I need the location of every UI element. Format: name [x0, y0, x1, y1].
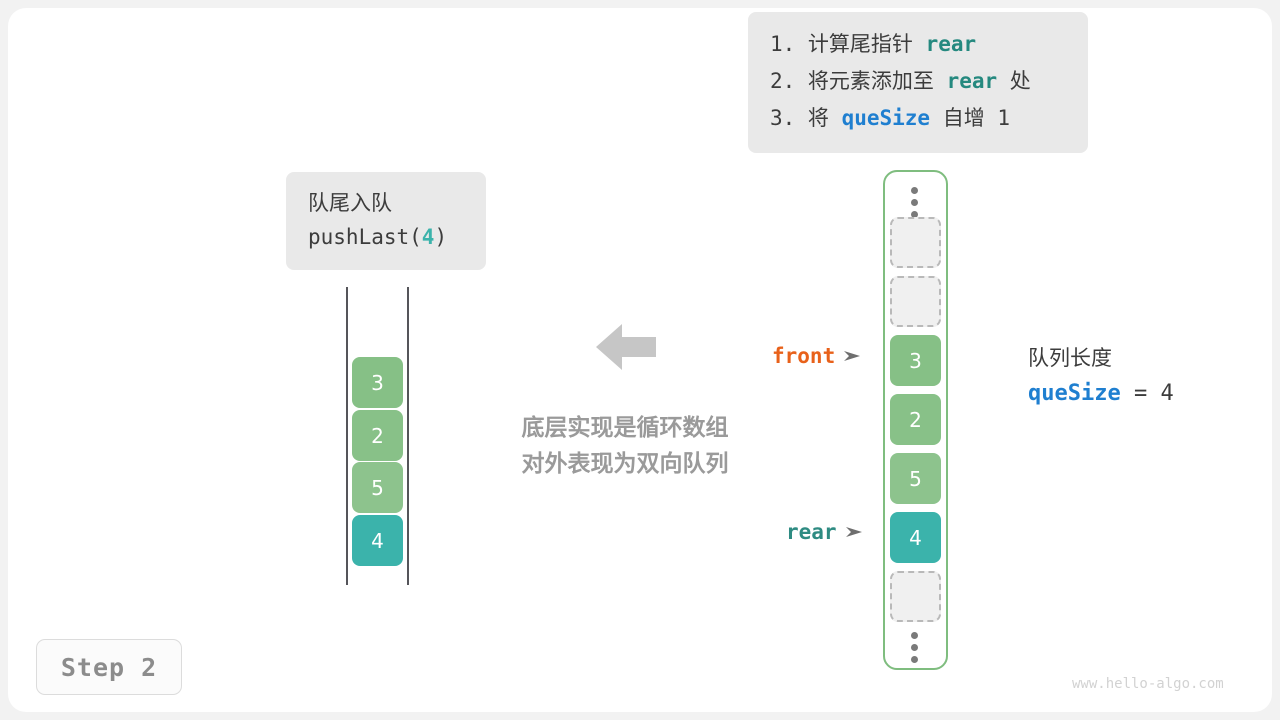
- instruction-line-3-prefix: 3. 将: [770, 106, 842, 130]
- operation-call-prefix: pushLast(: [308, 225, 422, 249]
- bottom-ellipsis-icon: [911, 632, 918, 663]
- instruction-line-2-prefix: 2. 将元素添加至: [770, 69, 947, 93]
- queue-size-equals: =: [1121, 381, 1161, 406]
- deque-cell-2: 5: [352, 462, 403, 513]
- instruction-line-2: 2. 将元素添加至 rear 处: [748, 63, 1088, 100]
- array-cell-2: 3: [890, 335, 941, 386]
- instruction-line-2-suffix: 处: [997, 69, 1031, 93]
- front-pointer-text: front: [772, 344, 835, 368]
- deque-cell-3: 4: [352, 515, 403, 566]
- watermark: www.hello-algo.com: [1072, 676, 1224, 692]
- deque-cell-1: 2: [352, 410, 403, 461]
- rear-arrow-icon: [846, 525, 864, 539]
- instruction-line-3-code: queSize: [842, 106, 931, 130]
- center-note: 底层实现是循环数组 对外表现为双向队列: [500, 410, 750, 482]
- instruction-line-3-suffix: 自增 1: [930, 106, 1010, 130]
- instruction-panel: 1. 计算尾指针 rear 2. 将元素添加至 rear 处 3. 将 queS…: [748, 12, 1088, 153]
- queue-size-expression: queSize = 4: [1028, 376, 1174, 412]
- operation-label-box: 队尾入队 pushLast(4): [286, 172, 486, 270]
- array-cell-4: 5: [890, 453, 941, 504]
- rear-pointer-text: rear: [786, 520, 837, 544]
- array-cell-3: 2: [890, 394, 941, 445]
- step-badge: Step 2: [36, 639, 182, 695]
- instruction-line-1: 1. 计算尾指针 rear: [748, 26, 1088, 63]
- queue-size-var: queSize: [1028, 381, 1121, 406]
- front-pointer-label: front: [772, 344, 862, 368]
- operation-call-arg: 4: [422, 225, 435, 249]
- queue-size-value: 4: [1160, 381, 1173, 406]
- circular-array-container: 3 2 5 4: [883, 170, 948, 670]
- step-badge-label: Step 2: [61, 653, 157, 682]
- deque-rail-right: [407, 287, 409, 585]
- top-ellipsis-icon: [911, 187, 918, 218]
- deque-cell-0: 3: [352, 357, 403, 408]
- instruction-line-1-code: rear: [926, 32, 977, 56]
- array-cell-5: 4: [890, 512, 941, 563]
- center-note-line-2: 对外表现为双向队列: [500, 446, 750, 482]
- diagram-canvas: 1. 计算尾指针 rear 2. 将元素添加至 rear 处 3. 将 queS…: [0, 0, 1280, 720]
- array-cell-1: [890, 276, 941, 327]
- center-note-line-1: 底层实现是循环数组: [500, 410, 750, 446]
- queue-size-title: 队列长度: [1028, 340, 1174, 376]
- front-arrow-icon: [844, 349, 862, 363]
- rear-pointer-label: rear: [786, 520, 864, 544]
- array-cell-0: [890, 217, 941, 268]
- instruction-line-1-prefix: 1. 计算尾指针: [770, 32, 926, 56]
- queue-size-info: 队列长度 queSize = 4: [1028, 340, 1174, 412]
- deque-rail-left: [346, 287, 348, 585]
- instruction-line-2-code: rear: [947, 69, 998, 93]
- operation-title: 队尾入队: [308, 186, 486, 220]
- array-cell-6: [890, 571, 941, 622]
- operation-call: pushLast(4): [308, 220, 486, 254]
- operation-call-suffix: ): [434, 225, 447, 249]
- instruction-line-3: 3. 将 queSize 自增 1: [748, 100, 1088, 137]
- flow-arrow-icon: [596, 322, 656, 372]
